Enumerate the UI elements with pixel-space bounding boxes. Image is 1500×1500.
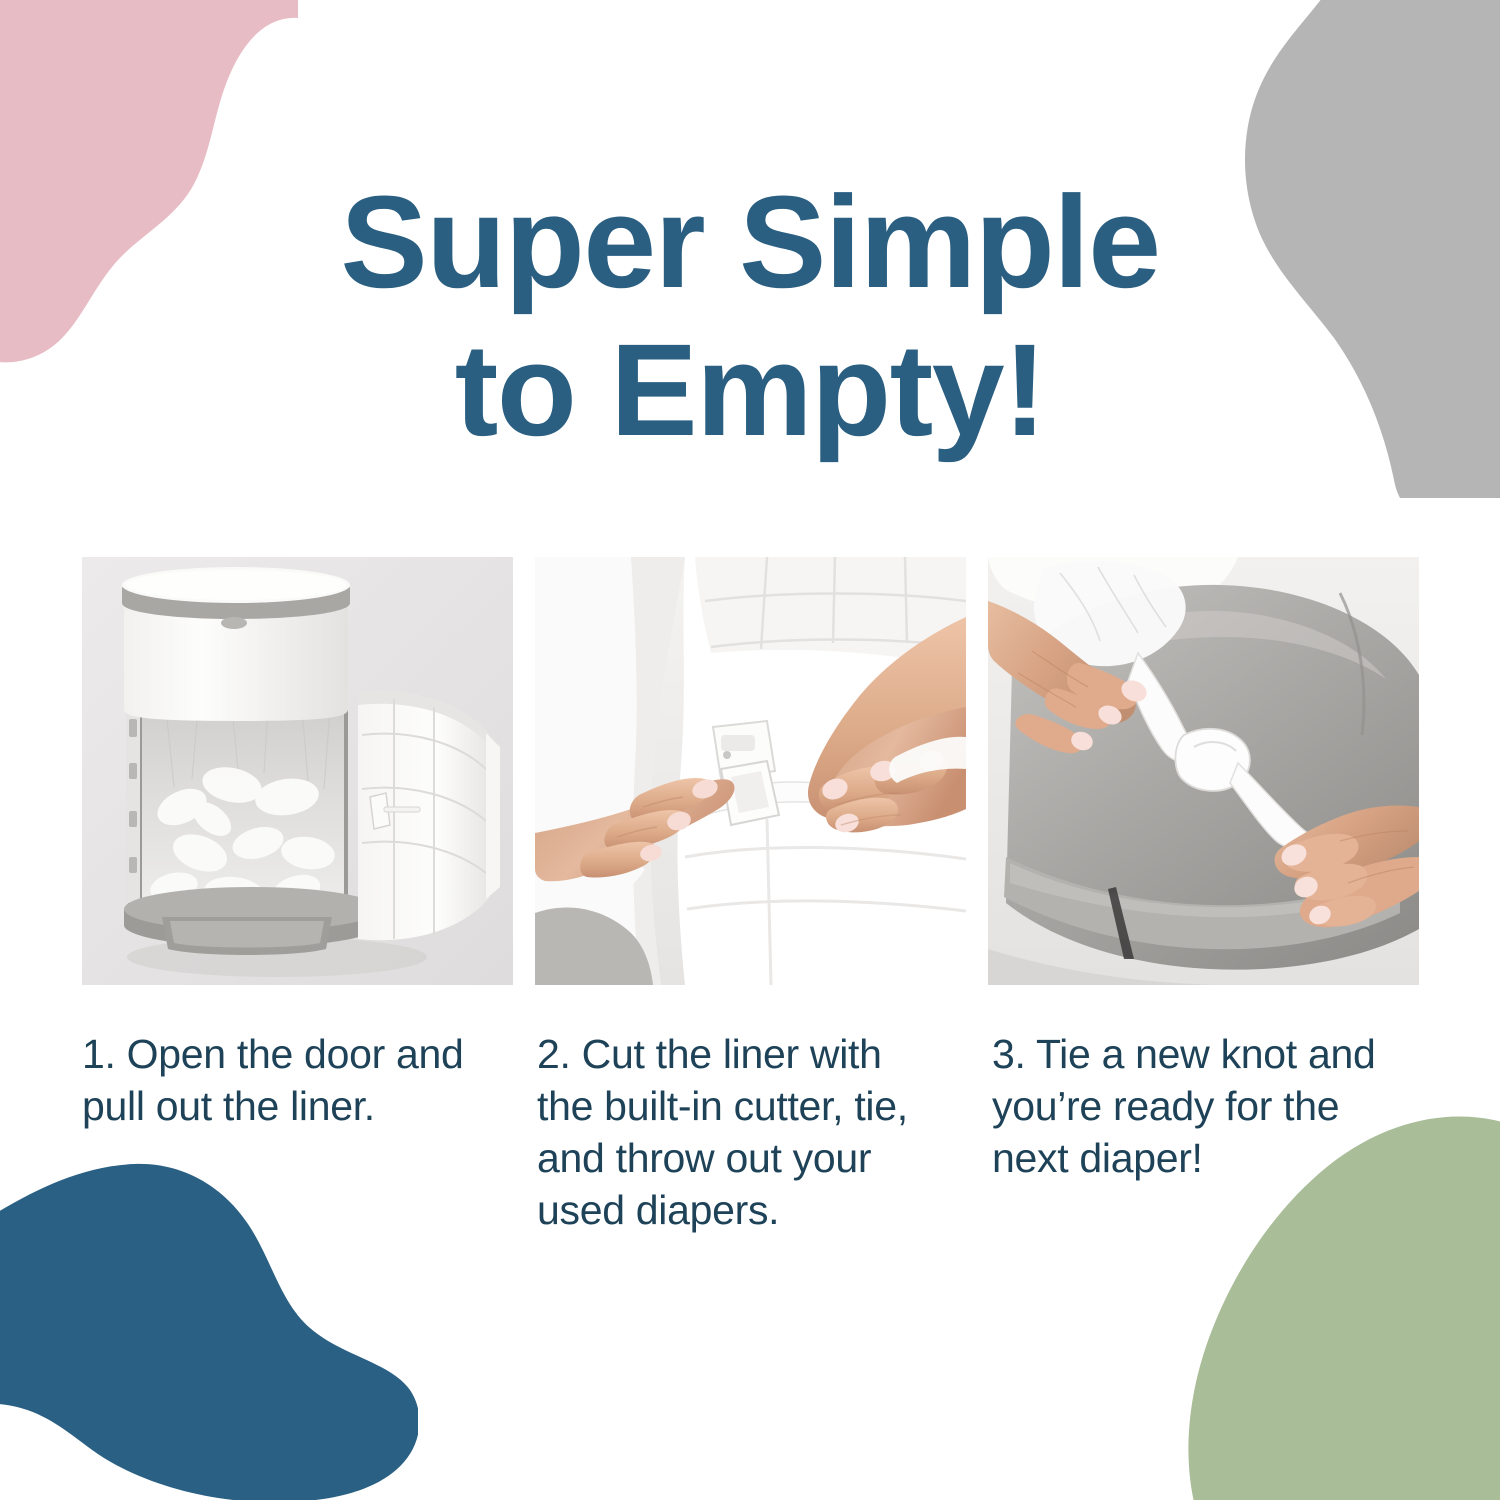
title-line-2: to Empty! <box>0 316 1500 464</box>
caption-row: 1. Open the door and pull out the liner.… <box>82 1028 1472 1236</box>
step-caption-cell-3: 3. Tie a new knot and you’re ready for t… <box>992 1028 1447 1236</box>
step-photo-3 <box>988 557 1419 985</box>
step-caption-cell-1: 1. Open the door and pull out the liner. <box>82 1028 537 1236</box>
step-caption-cell-2: 2. Cut the liner with the built-in cutte… <box>537 1028 992 1236</box>
page-title: Super Simple to Empty! <box>0 168 1500 464</box>
step-caption-2: 2. Cut the liner with the built-in cutte… <box>537 1028 945 1236</box>
step-photo-1 <box>82 557 513 985</box>
photo-row <box>82 557 1419 985</box>
step-caption-1: 1. Open the door and pull out the liner. <box>82 1028 482 1132</box>
title-line-1: Super Simple <box>0 168 1500 316</box>
infographic-canvas: Super Simple to Empty! <box>0 0 1500 1500</box>
step-photo-2 <box>535 557 966 985</box>
step-caption-3: 3. Tie a new knot and you’re ready for t… <box>992 1028 1392 1184</box>
